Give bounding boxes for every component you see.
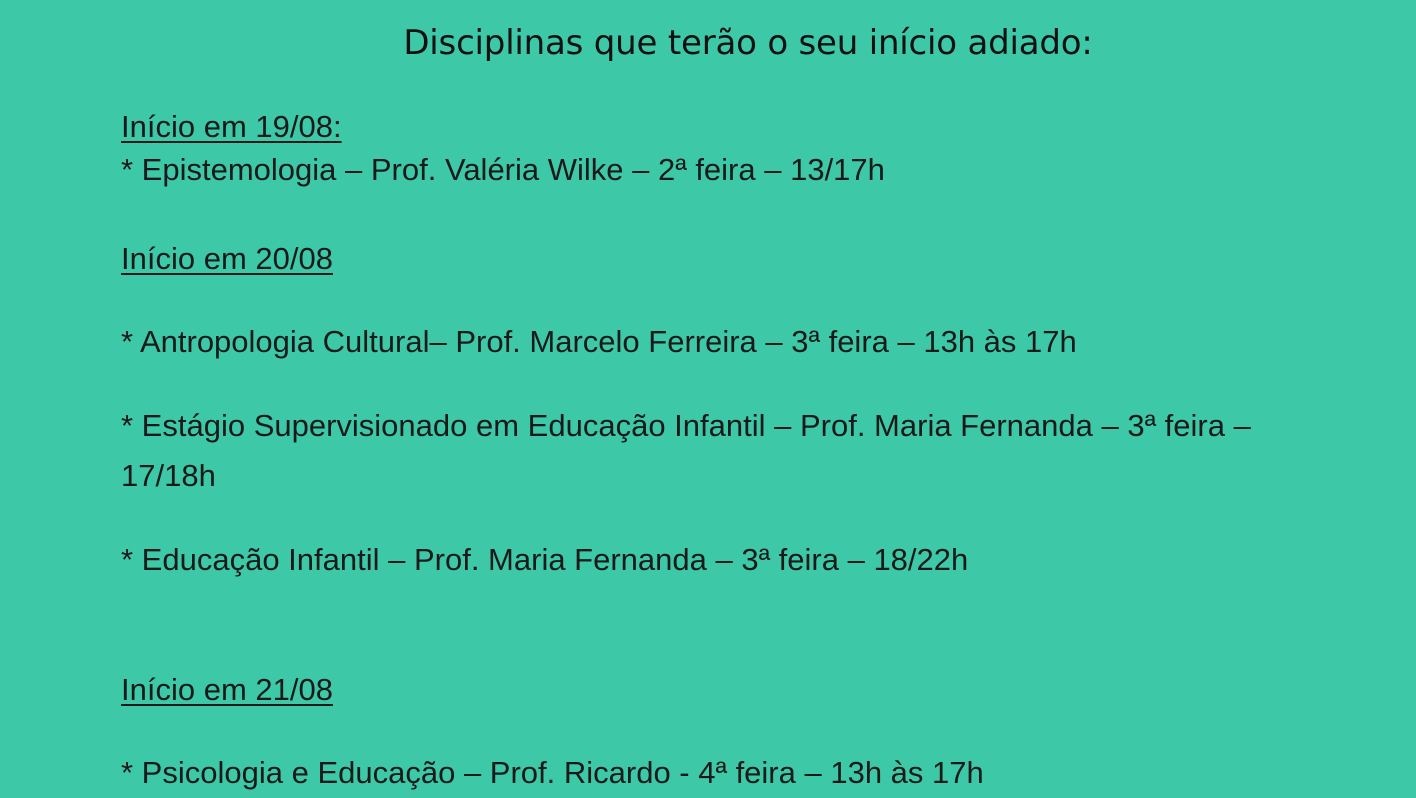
list-item: * Epistemologia – Prof. Valéria Wilke – … — [121, 151, 1306, 188]
section-heading-row: Início em 19/08: — [121, 108, 1306, 151]
section-heading-21-08: Início em 21/08 — [121, 671, 333, 708]
section-spacer — [121, 188, 1306, 240]
list-item: * Estágio Supervisionado em Educação Inf… — [121, 401, 1306, 501]
page-title: Disciplinas que terão o seu início adiad… — [120, 24, 1376, 63]
section-heading-row: Início em 21/08 — [121, 671, 1306, 714]
section-spacer — [121, 585, 1306, 671]
section-19-08: Início em 19/08: * Epistemologia – Prof.… — [121, 108, 1306, 188]
section-heading-20-08: Início em 20/08 — [121, 240, 333, 277]
slide-canvas: Disciplinas que terão o seu início adiad… — [0, 0, 1416, 672]
section-21-08: Início em 21/08 * Psicologia e Educação … — [121, 671, 1306, 798]
content-body: Início em 19/08: * Epistemologia – Prof.… — [121, 108, 1306, 798]
section-heading-19-08: Início em 19/08: — [121, 108, 342, 145]
heading-spacer — [121, 714, 1306, 748]
list-item: * Psicologia e Educação – Prof. Ricardo … — [121, 748, 1306, 798]
item-spacer — [121, 501, 1306, 535]
item-spacer — [121, 367, 1306, 401]
list-item: * Educação Infantil – Prof. Maria Fernan… — [121, 535, 1306, 585]
section-heading-row: Início em 20/08 — [121, 240, 1306, 283]
list-item: * Antropologia Cultural– Prof. Marcelo F… — [121, 317, 1306, 367]
section-20-08: Início em 20/08 * Antropologia Cultural–… — [121, 240, 1306, 585]
heading-spacer — [121, 283, 1306, 317]
